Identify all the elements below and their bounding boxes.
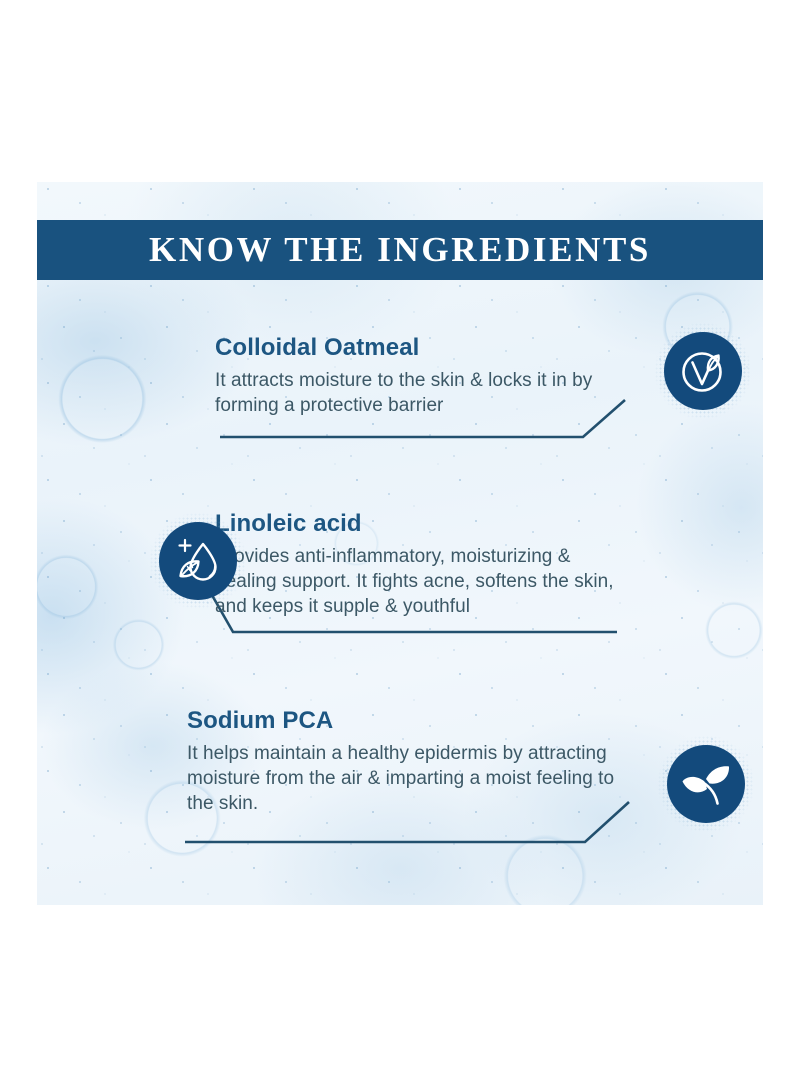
- ingredients-infographic: KNOW THE INGREDIENTS Colloidal Oatmeal I…: [37, 182, 763, 905]
- ingredient-name-1: Colloidal Oatmeal: [215, 334, 615, 362]
- vegan-leaf-icon: [677, 345, 729, 397]
- ingredient-badge-1: [664, 332, 742, 410]
- ingredient-block-3: Sodium PCA It helps maintain a healthy e…: [187, 707, 627, 816]
- ingredient-block-1: Colloidal Oatmeal It attracts moisture t…: [215, 334, 615, 418]
- badge-disc: [159, 522, 237, 600]
- sprout-leaves-icon: [679, 757, 733, 811]
- ingredient-name-3: Sodium PCA: [187, 707, 627, 735]
- ingredient-badge-2: [159, 522, 237, 600]
- ingredient-description-2: Provides anti-inflammatory, moisturizing…: [215, 544, 635, 619]
- title-band: KNOW THE INGREDIENTS: [37, 220, 763, 280]
- droplet-leaf-plus-icon: [172, 535, 224, 587]
- ingredient-description-1: It attracts moisture to the skin & locks…: [215, 368, 615, 418]
- ingredient-name-2: Linoleic acid: [215, 510, 635, 538]
- ingredient-description-3: It helps maintain a healthy epidermis by…: [187, 741, 627, 816]
- page-title: KNOW THE INGREDIENTS: [149, 230, 651, 270]
- badge-disc: [667, 745, 745, 823]
- badge-disc: [664, 332, 742, 410]
- ingredient-block-2: Linoleic acid Provides anti-inflammatory…: [215, 510, 635, 619]
- ingredient-badge-3: [667, 745, 745, 823]
